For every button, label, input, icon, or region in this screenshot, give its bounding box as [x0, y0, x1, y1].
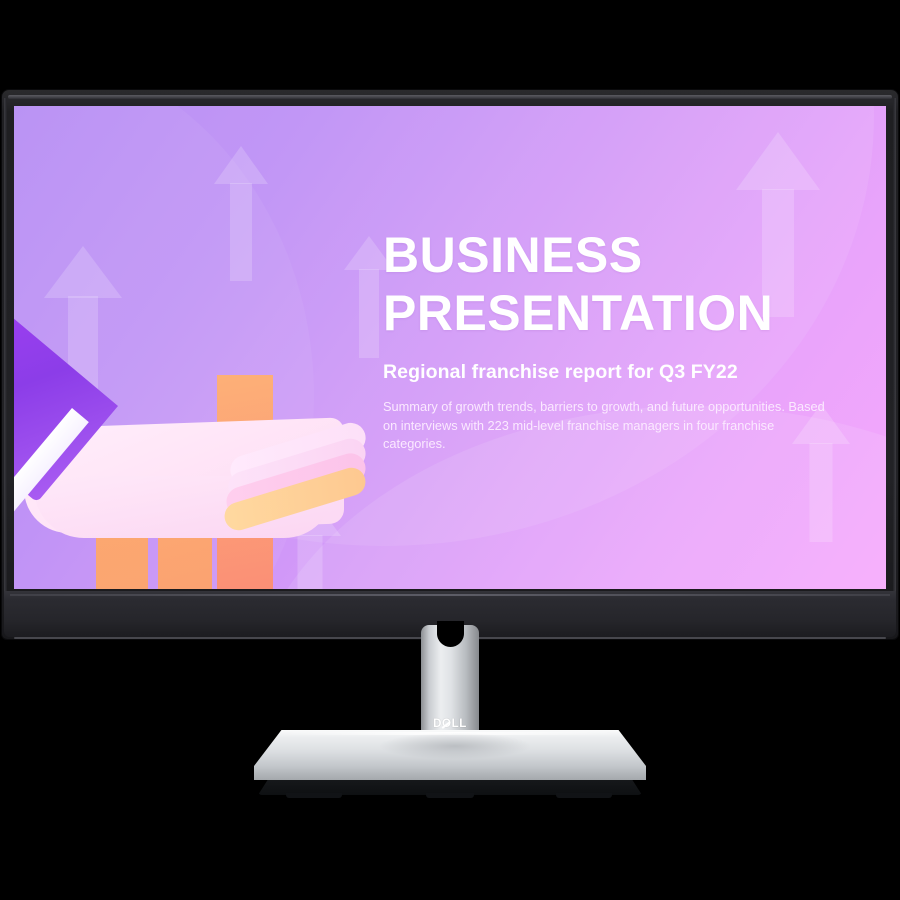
stand-foot-center: [426, 793, 474, 798]
dell-logo: DOLL: [421, 718, 479, 730]
stand-foot-right: [556, 793, 612, 798]
screenshot-stage: BUSINESS PRESENTATION Regional franchise…: [0, 0, 900, 900]
dell-logo-slash-e: O: [442, 718, 452, 730]
monitor-stand: DOLL: [0, 0, 900, 900]
dell-logo-tail: LL: [452, 718, 467, 730]
stand-cable-cutout: [437, 621, 464, 647]
dell-logo-head: D: [433, 718, 442, 730]
stand-base-sheen: [380, 733, 530, 759]
stand-foot-left: [286, 793, 342, 798]
